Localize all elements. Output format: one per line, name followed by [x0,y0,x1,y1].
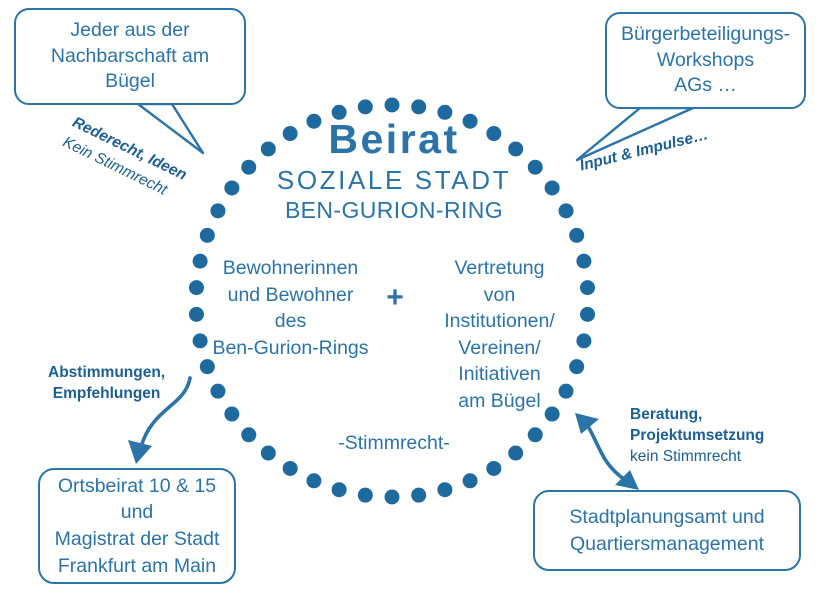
ring-dot [486,461,501,476]
ring-dot [332,482,347,497]
ring-dot [200,228,215,243]
page-title: Beirat [196,118,592,161]
label-beratung-line2: Projektumsetzung [630,425,764,446]
box-ortsbeirat-magistrat[interactable]: Ortsbeirat 10 & 15undMagistrat der Stadt… [38,468,236,584]
label-abstimmungen-line2: Empfehlungen [48,383,165,404]
label-abstimmungen: Abstimmungen, Empfehlungen [48,362,165,404]
box-stadtplanung-text: Stadtplanungsamt undQuartiersmanagement [569,504,764,557]
ring-dot [437,482,452,497]
bubble-neighbourhood[interactable]: Jeder aus derNachbarschaft amBügel [14,8,246,105]
column-institutions: VertretungvonInstitutionen/Vereinen/Init… [417,255,582,414]
ring-dot [306,473,321,488]
box-stadtplanungsamt-quartiersmanagement[interactable]: Stadtplanungsamt undQuartiersmanagement [533,490,801,571]
ring-dot [411,488,426,503]
plus-sign: + [373,255,417,315]
center-heading-group: Beirat SOZIALE STADT BEN-GURION-RING [196,118,592,223]
diagram-canvas: Jeder aus derNachbarschaft amBügel Bürge… [0,0,820,600]
ring-dot [283,461,298,476]
ring-dot [569,228,584,243]
ring-dot [358,99,373,114]
ring-dot [411,99,426,114]
label-abstimmungen-line1: Abstimmungen, [48,362,165,383]
ring-dot [358,488,373,503]
ring-dot [189,280,204,295]
bubble-workshops[interactable]: Bürgerbeteiligungs-WorkshopsAGs … [605,12,806,109]
center-voting-note: -Stimmrecht- [196,432,592,455]
center-membership-columns: Bewohnerinnenund BewohnerdesBen-Gurion-R… [205,255,585,414]
bubble-neighbourhood-text: Jeder aus derNachbarschaft amBügel [51,18,209,96]
column-residents: Bewohnerinnenund BewohnerdesBen-Gurion-R… [208,255,373,361]
box-ortsbeirat-text: Ortsbeirat 10 & 15undMagistrat der Stadt… [55,473,220,579]
arrowhead-abstimmungen [128,440,152,464]
ring-dot [385,490,400,505]
subtitle-ben-gurion-ring: BEN-GURION-RING [196,198,592,223]
label-beratung: Beratung, Projektumsetzung kein Stimmrec… [630,404,764,467]
label-beratung-line3: kein Stimmrecht [630,446,764,467]
label-beratung-line1: Beratung, [630,404,764,425]
ring-dot [463,473,478,488]
arrowhead-beratung-up [575,413,599,434]
ring-dot [385,98,400,113]
bubble-workshops-text: Bürgerbeteiligungs-WorkshopsAGs … [621,22,790,100]
ring-dot [189,307,204,322]
subtitle-soziale-stadt: SOZIALE STADT [196,166,592,195]
